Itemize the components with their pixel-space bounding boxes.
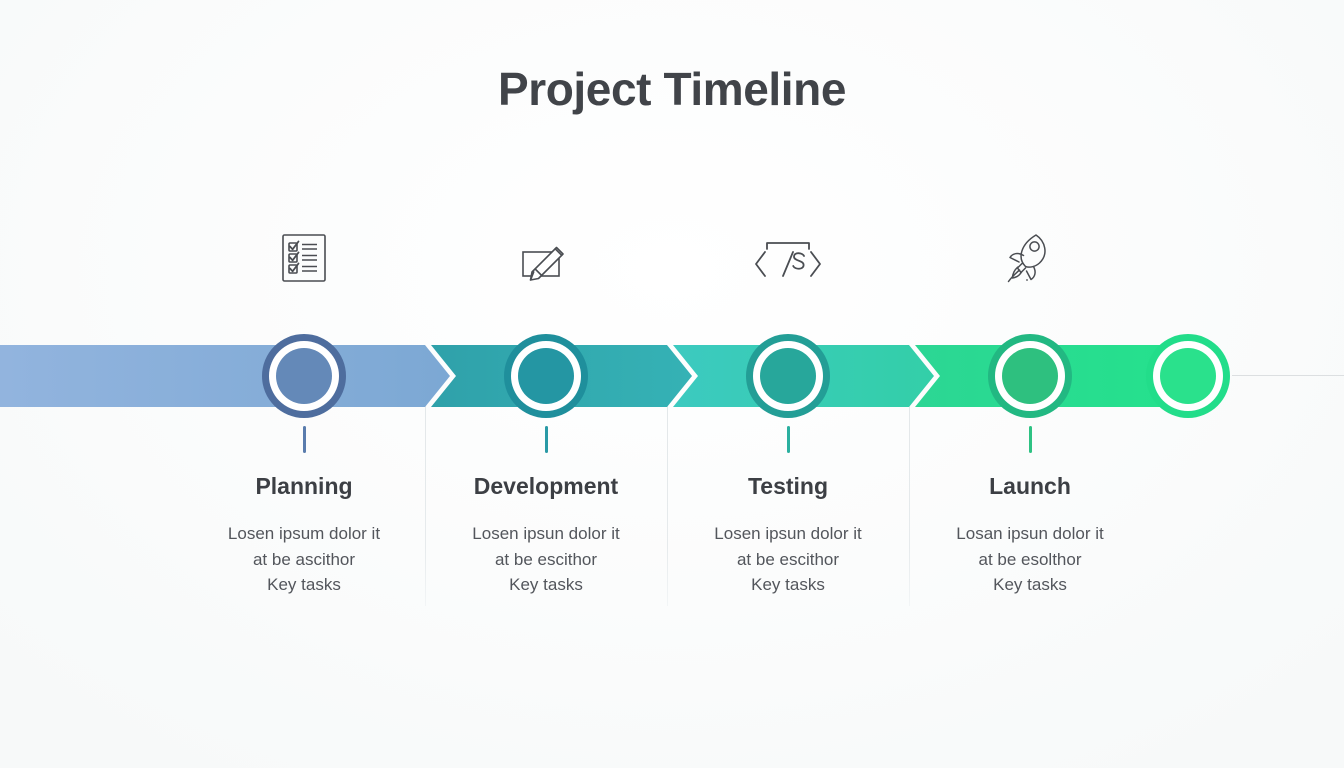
node-stem-planning xyxy=(303,426,306,453)
desc-line: Losan ipsun dolor it xyxy=(880,521,1180,547)
page-title: Project Timeline xyxy=(0,62,1344,116)
node-core xyxy=(276,348,332,404)
node-stem-launch xyxy=(1029,426,1032,453)
desc-line: Key tasks xyxy=(880,572,1180,598)
timeline-node-end-marker[interactable] xyxy=(1146,334,1230,418)
node-core xyxy=(1002,348,1058,404)
code-brackets-icon xyxy=(746,222,830,294)
timeline-node-development[interactable] xyxy=(504,334,588,418)
node-core xyxy=(760,348,816,404)
timeline-node-testing[interactable] xyxy=(746,334,830,418)
pencil-edit-icon xyxy=(504,222,588,294)
step-description-launch: Losan ipsun dolor it at be esolthor Key … xyxy=(880,521,1180,598)
rocket-icon xyxy=(988,222,1072,294)
timeline-node-launch[interactable] xyxy=(988,334,1072,418)
desc-line: at be esolthor xyxy=(880,547,1180,573)
timeline-bar xyxy=(0,345,1344,407)
step-title-launch: Launch xyxy=(880,473,1180,500)
timeline-infographic: Project Timeline xyxy=(0,0,1344,768)
timeline-tail-rule xyxy=(1232,375,1344,376)
bar-segment-1 xyxy=(0,345,450,407)
node-core xyxy=(518,348,574,404)
node-stem-testing xyxy=(787,426,790,453)
node-stem-development xyxy=(545,426,548,453)
checklist-icon xyxy=(262,222,346,294)
timeline-node-planning[interactable] xyxy=(262,334,346,418)
node-core xyxy=(1160,348,1216,404)
